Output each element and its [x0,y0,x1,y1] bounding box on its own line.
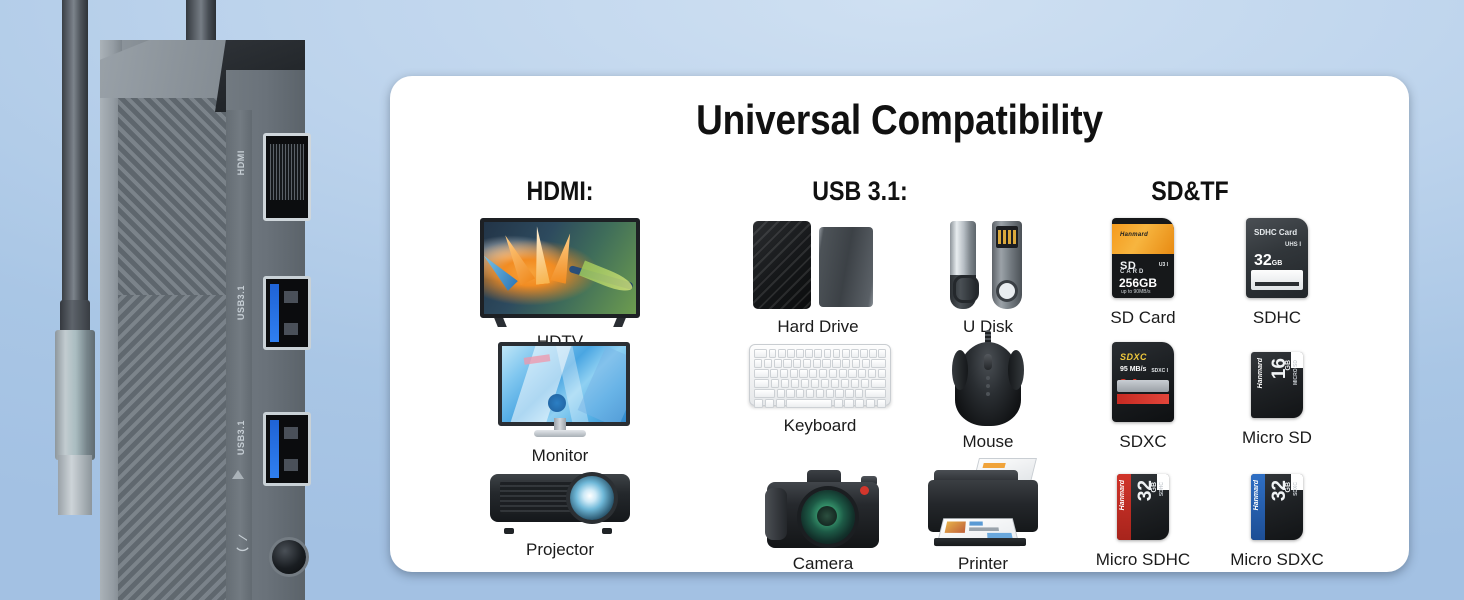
monitor-screen [498,342,630,426]
camera-icon [763,468,883,550]
camera-red-indicator [860,486,869,495]
hdtv-icon [480,218,640,318]
item-sdhc: SDHC Card UHS I 32GB SDHC [1212,218,1342,328]
item-label: Micro SDXC [1212,550,1342,570]
item-camera: Camera [748,468,898,574]
arrow-indicator-icon [232,470,244,479]
audio-jack-port [272,540,306,574]
usb-c-cable [62,0,88,320]
item-label: Camera [748,554,898,574]
printer-output-tray [934,538,1026,546]
sd-card-speed: up to 90MB/s [1121,289,1150,295]
usb-port-1 [263,276,311,350]
hard-drive-secondary [819,227,873,307]
item-keyboard: Keyboard [735,344,905,436]
sd-card-subtype: CARD [1120,269,1145,275]
usb-flash-drive-metal [950,221,976,309]
sdxc-brand-band [1117,394,1169,404]
keyboard-row [754,389,886,398]
keyboard-row [754,349,886,358]
hdtv-foot-right [613,318,626,327]
printed-image-2 [969,521,982,525]
item-label: SDHC [1212,308,1342,328]
mouse-button-dot [986,384,990,388]
monitor-stand-base [534,430,586,437]
keyboard-row [754,359,886,368]
micro-sdhc-card-icon: Hanmard 32 GB SDHC [1117,474,1169,540]
compatibility-card: Universal Compatibility HDMI: USB 3.1: S… [390,76,1409,572]
monitor-wallpaper-dot [548,394,566,412]
sdhc-label-strip [1251,270,1303,290]
item-micro-sdxc: Hanmard 32 GB SDXC Micro SDXC [1212,468,1342,570]
usb-keyring-hole [999,283,1015,299]
keyboard-row [754,399,886,408]
usb-tab [284,291,298,303]
printer-icon [924,464,1042,548]
projector-foot-right [602,528,612,534]
hdmi-port-label: HDMI [236,150,246,175]
item-projector: Projector [480,468,640,560]
usb-port-2 [263,412,311,486]
item-hdtv: HDTV [470,218,650,352]
printed-text-line [969,527,999,531]
keyboard-row [754,369,886,378]
usb-tab-4 [284,459,298,471]
flower-leaf [579,260,635,295]
micro-sdxc-type: SDXC [1293,482,1299,496]
mouse-side-left [952,350,968,390]
item-micro-sdhc: Hanmard 32 GB SDHC Micro SDHC [1078,468,1208,570]
sd-card-icon: Hanmard SD CARD 256GB up to 90MB/s U3 I [1112,218,1174,298]
micro-sd-brand: Hanmard [1257,358,1264,388]
item-label: Printer [908,554,1058,574]
hard-drive-primary [753,221,811,309]
sdxc-speed: 95 MB/s [1120,366,1146,373]
sdxc-label-strip [1117,380,1169,392]
item-u-disk: U Disk [918,221,1058,337]
item-label: Micro SD [1212,428,1342,448]
micro-sdhc-unit: GB [1151,482,1158,493]
column-header-usb: USB 3.1: [757,176,963,207]
item-label: Keyboard [735,416,905,436]
item-label: Projector [480,540,640,560]
item-monitor: Monitor [488,342,632,466]
mouse-side-right [1008,350,1024,390]
sd-card-marks: U3 I [1159,262,1168,268]
sdhc-capacity: 32GB [1254,252,1282,270]
usb-blue-insert [270,284,279,342]
mouse-scroll-wheel [984,354,992,370]
micro-sd-type: MICRO SD [1293,360,1299,385]
sdxc-marks: SDXC I [1151,368,1168,374]
item-label: Monitor [488,446,632,466]
usb31-port-label-2: USB3.1 [236,420,246,455]
projector-icon [490,468,630,530]
item-sd-card: Hanmard SD CARD 256GB up to 90MB/s U3 I … [1078,218,1208,328]
micro-sdxc-card-icon: Hanmard 32 GB SDXC [1251,474,1303,540]
micro-sdxc-unit: GB [1285,482,1292,493]
micro-sd-card-icon: Hanmard 16 GB MICRO SD [1251,352,1303,418]
usb-tab-3 [284,427,298,439]
camera-lens [801,490,855,544]
product-photo: HDMI USB3.1 USB3.1 ⌒∕ [0,0,360,600]
column-header-hdmi: HDMI: [457,176,663,207]
usb-c-connector [55,330,95,460]
item-label: SDXC [1078,432,1208,452]
mouse-button-dot [986,376,990,380]
sd-card-band [1112,224,1174,254]
sdhc-card-icon: SDHC Card UHS I 32GB [1246,218,1308,298]
sd-card-brand: Hanmard [1120,232,1148,238]
micro-sdhc-brand: Hanmard [1119,480,1126,510]
hdmi-port [263,133,311,221]
sdxc-title: SDXC [1120,352,1147,362]
hub-port-strip [226,110,252,600]
sdxc-card-icon: SDXC 95 MB/s SDXC I 64GB [1112,342,1174,422]
item-label: Hard Drive [738,317,898,337]
micro-sdhc-type: SDHC [1159,482,1165,496]
column-header-sdtf: SD&TF [1087,176,1293,207]
item-label: Micro SDHC [1078,550,1208,570]
item-hard-drive: Hard Drive [738,221,898,337]
monitor-icon [498,342,622,438]
projector-lens [570,476,614,520]
hard-drive-icon [753,221,883,311]
projector-foot-left [504,528,514,534]
keyboard-icon [749,344,891,406]
usb-contacts [996,226,1018,248]
item-sdxc: SDXC 95 MB/s SDXC I 64GB SDXC [1078,342,1208,452]
usb-flash-drive-slim [992,221,1022,309]
usb-flash-drive-icon [942,221,1034,313]
usb-tab-2 [284,323,298,335]
item-micro-sd: Hanmard 16 GB MICRO SD Micro SD [1212,346,1342,448]
hdtv-screen [480,218,640,318]
usb-blue-insert-2 [270,420,279,478]
printed-image-1 [945,521,966,532]
mouse-button-dot [986,392,990,396]
sd-card-capacity: 256GB [1119,276,1157,290]
micro-sd-unit: GB [1285,360,1292,371]
sdhc-marks: UHS I [1285,242,1301,248]
connector-tip [58,455,92,515]
item-printer: Printer [908,464,1058,574]
hub-ridge-texture-top [118,95,226,295]
mouse-icon [955,334,1021,426]
camera-grip [765,488,787,540]
headphone-icon: ⌒∕ [234,536,251,551]
item-label: Mouse [930,432,1046,452]
micro-sdxc-brand: Hanmard [1253,480,1260,510]
item-mouse: Mouse [930,334,1046,452]
usb31-port-label-1: USB3.1 [236,285,246,320]
keyboard-row [754,379,886,388]
product-infographic: HDMI USB3.1 USB3.1 ⌒∕ Universal Compatib… [0,0,1464,600]
card-title: Universal Compatibility [451,96,1348,144]
sdhc-title: SDHC Card [1254,228,1297,237]
hdtv-foot-left [494,318,507,327]
flower-petal-3 [550,232,578,284]
item-label: SD Card [1078,308,1208,328]
